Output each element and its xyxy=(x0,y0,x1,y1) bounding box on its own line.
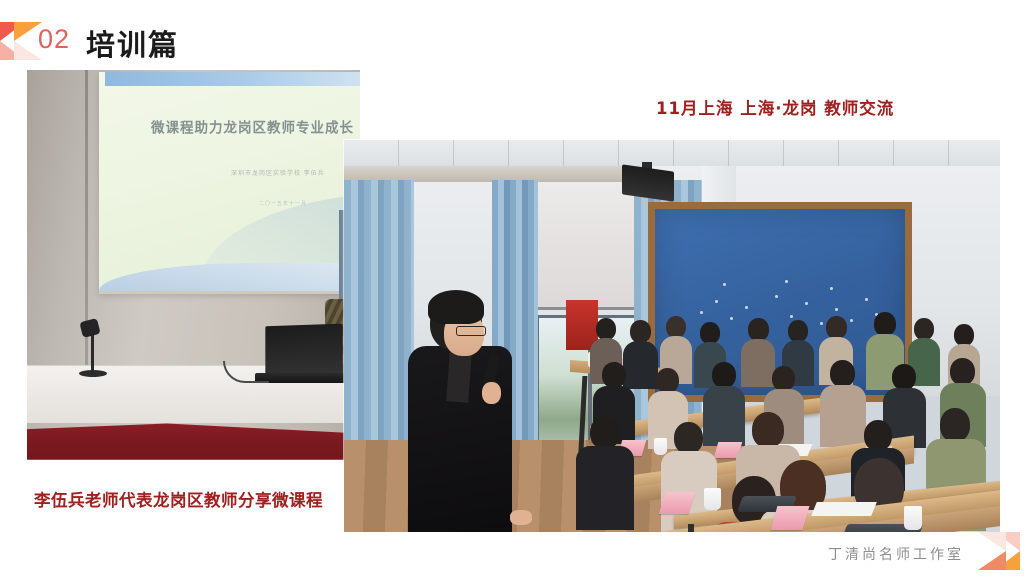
laptop-base xyxy=(255,373,351,383)
photo-right-classroom xyxy=(344,140,1000,532)
chevron-logo-icon-footer xyxy=(978,532,1020,570)
section-number: 02 xyxy=(38,24,70,55)
projected-slide-date: 二〇一五年十一月 xyxy=(259,200,307,207)
presenter-hand-lower xyxy=(510,510,532,525)
projected-slide-subtitle: 深圳市龙岗区实验学校 李伍兵 xyxy=(231,168,325,177)
curtain-left xyxy=(344,180,414,480)
caption-left-photo: 李伍兵老师代表龙岗区教师分享微课程 xyxy=(34,487,323,511)
paper-cup xyxy=(904,506,922,530)
slide-top-band xyxy=(105,72,360,86)
microphone-stem xyxy=(91,333,94,375)
name-card xyxy=(771,506,810,530)
caption-right-photo: 11月上海 上海·龙岗 教师交流 xyxy=(656,95,894,119)
slide-bottom-band xyxy=(99,263,360,291)
handout-paper xyxy=(811,502,877,516)
presenter-hair xyxy=(428,290,484,324)
footer-studio-name: 丁清尚名师工作室 xyxy=(828,544,964,564)
laptop-screen xyxy=(265,324,342,379)
window-shade xyxy=(534,182,642,310)
page-title: 培训篇 xyxy=(86,22,179,64)
presenter-shirt xyxy=(446,351,471,402)
projected-slide-title: 微课程助力龙岗区教师专业成长 xyxy=(151,116,354,137)
presentation-slide: 02 培训篇 微课程助力龙岗区教师专业成长 深圳市龙岗区实验学校 李伍兵 二〇一… xyxy=(0,0,1024,576)
slide-header: 02 培训篇 xyxy=(0,8,1024,64)
paper-cup xyxy=(654,438,667,455)
projection-screen: 微课程助力龙岗区教师专业成长 深圳市龙岗区实验学校 李伍兵 二〇一五年十一月 xyxy=(99,72,360,294)
desk-leg xyxy=(688,524,694,532)
glasses-icon xyxy=(456,326,486,336)
paper-cup xyxy=(704,488,721,510)
presenter-hand xyxy=(482,382,501,404)
photo-left-projection: 微课程助力龙岗区教师专业成长 深圳市龙岗区实验学校 李伍兵 二〇一五年十一月 xyxy=(27,70,360,475)
chevron-logo-icon xyxy=(0,22,42,60)
name-card xyxy=(659,492,695,514)
